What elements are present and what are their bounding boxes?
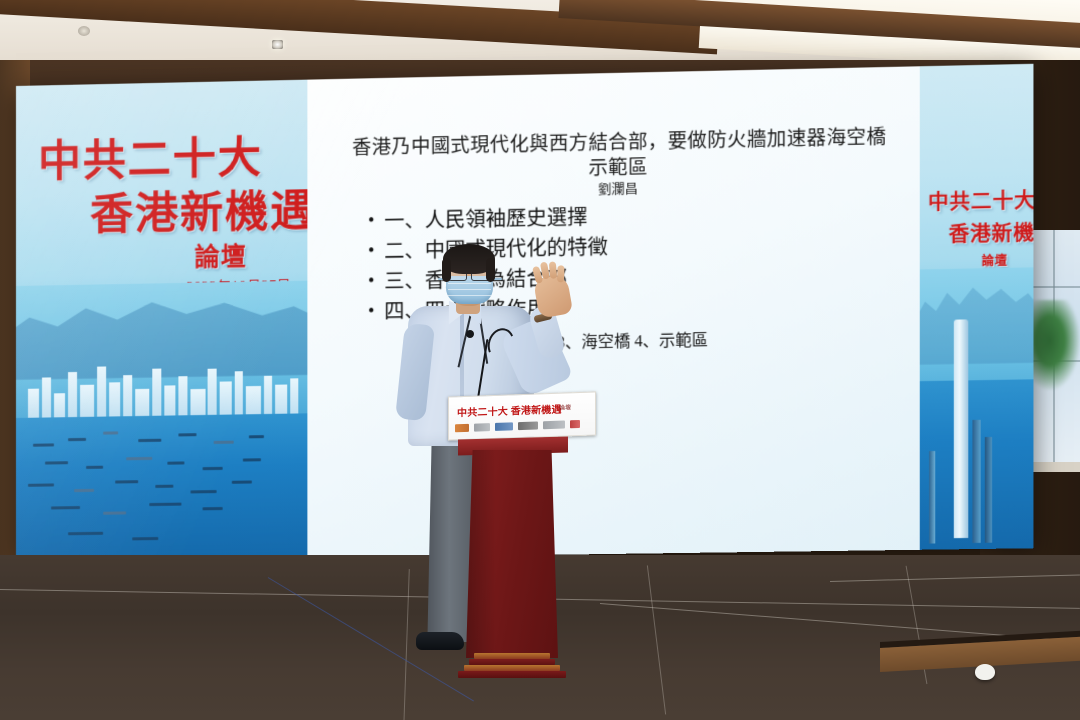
podium-side-face (466, 450, 496, 658)
ceiling-spotlight-icon (272, 40, 283, 49)
skyline-building (985, 436, 993, 543)
harbour-water (16, 414, 307, 562)
sponsor-logo-4 (518, 421, 538, 430)
podium-base (458, 652, 566, 678)
left-poster-line3: 論壇 (195, 237, 247, 274)
left-poster-line2: 香港新機遇 (90, 176, 307, 243)
sponsor-logo-1 (455, 424, 469, 432)
ceiling-spotlight-icon (78, 26, 90, 36)
plant-decor (1030, 300, 1080, 390)
skyline-building (929, 451, 936, 544)
bullet-marker-icon: • (368, 271, 384, 291)
speaker-hair-side (442, 258, 451, 282)
left-poster-harbour-photo (16, 281, 307, 562)
sponsor-logo-6 (570, 420, 580, 428)
slide-bullet-item: • 一、人民領袖歷史選擇 (368, 201, 899, 235)
bullet-marker-icon: • (368, 301, 384, 321)
sponsor-logo-3 (495, 422, 513, 431)
speaker-hair-side (486, 258, 495, 282)
sponsor-logo-5 (543, 420, 565, 429)
photo-scene: 中共二十大 香港新機遇 論壇 2022年10月27日 (0, 0, 1080, 720)
right-poster-line3: 論壇 (982, 252, 1008, 270)
led-panel-right-poster: 中共二十大 香港新機遇 論壇 2022年10月27日 (920, 64, 1034, 550)
floor-object (975, 664, 995, 680)
right-poster-line1: 中共二十大 (928, 184, 1033, 216)
slide-bullet-text: 一、人民領袖歷史選擇 (384, 207, 587, 234)
podium-banner-subtitle: 論壇 (559, 402, 571, 411)
bullet-marker-icon: • (368, 211, 384, 231)
skyline-building (972, 420, 981, 544)
bullet-marker-icon: • (368, 241, 384, 261)
podium-sponsor-logos (455, 417, 589, 436)
led-panel-left-poster: 中共二十大 香港新機遇 論壇 2022年10月27日 (16, 80, 307, 562)
speaker-right-hand (533, 273, 573, 318)
podium: 中共二十大 香港新機遇 論壇 (452, 428, 572, 678)
microphone-head-icon (466, 330, 474, 338)
podium-banner: 中共二十大 香港新機遇 論壇 (448, 391, 596, 440)
right-poster-skyline-photo (920, 267, 1034, 550)
ifc-tower (954, 319, 969, 538)
right-poster-line2: 香港新機遇 (949, 216, 1034, 248)
sponsor-logo-2 (474, 423, 490, 432)
